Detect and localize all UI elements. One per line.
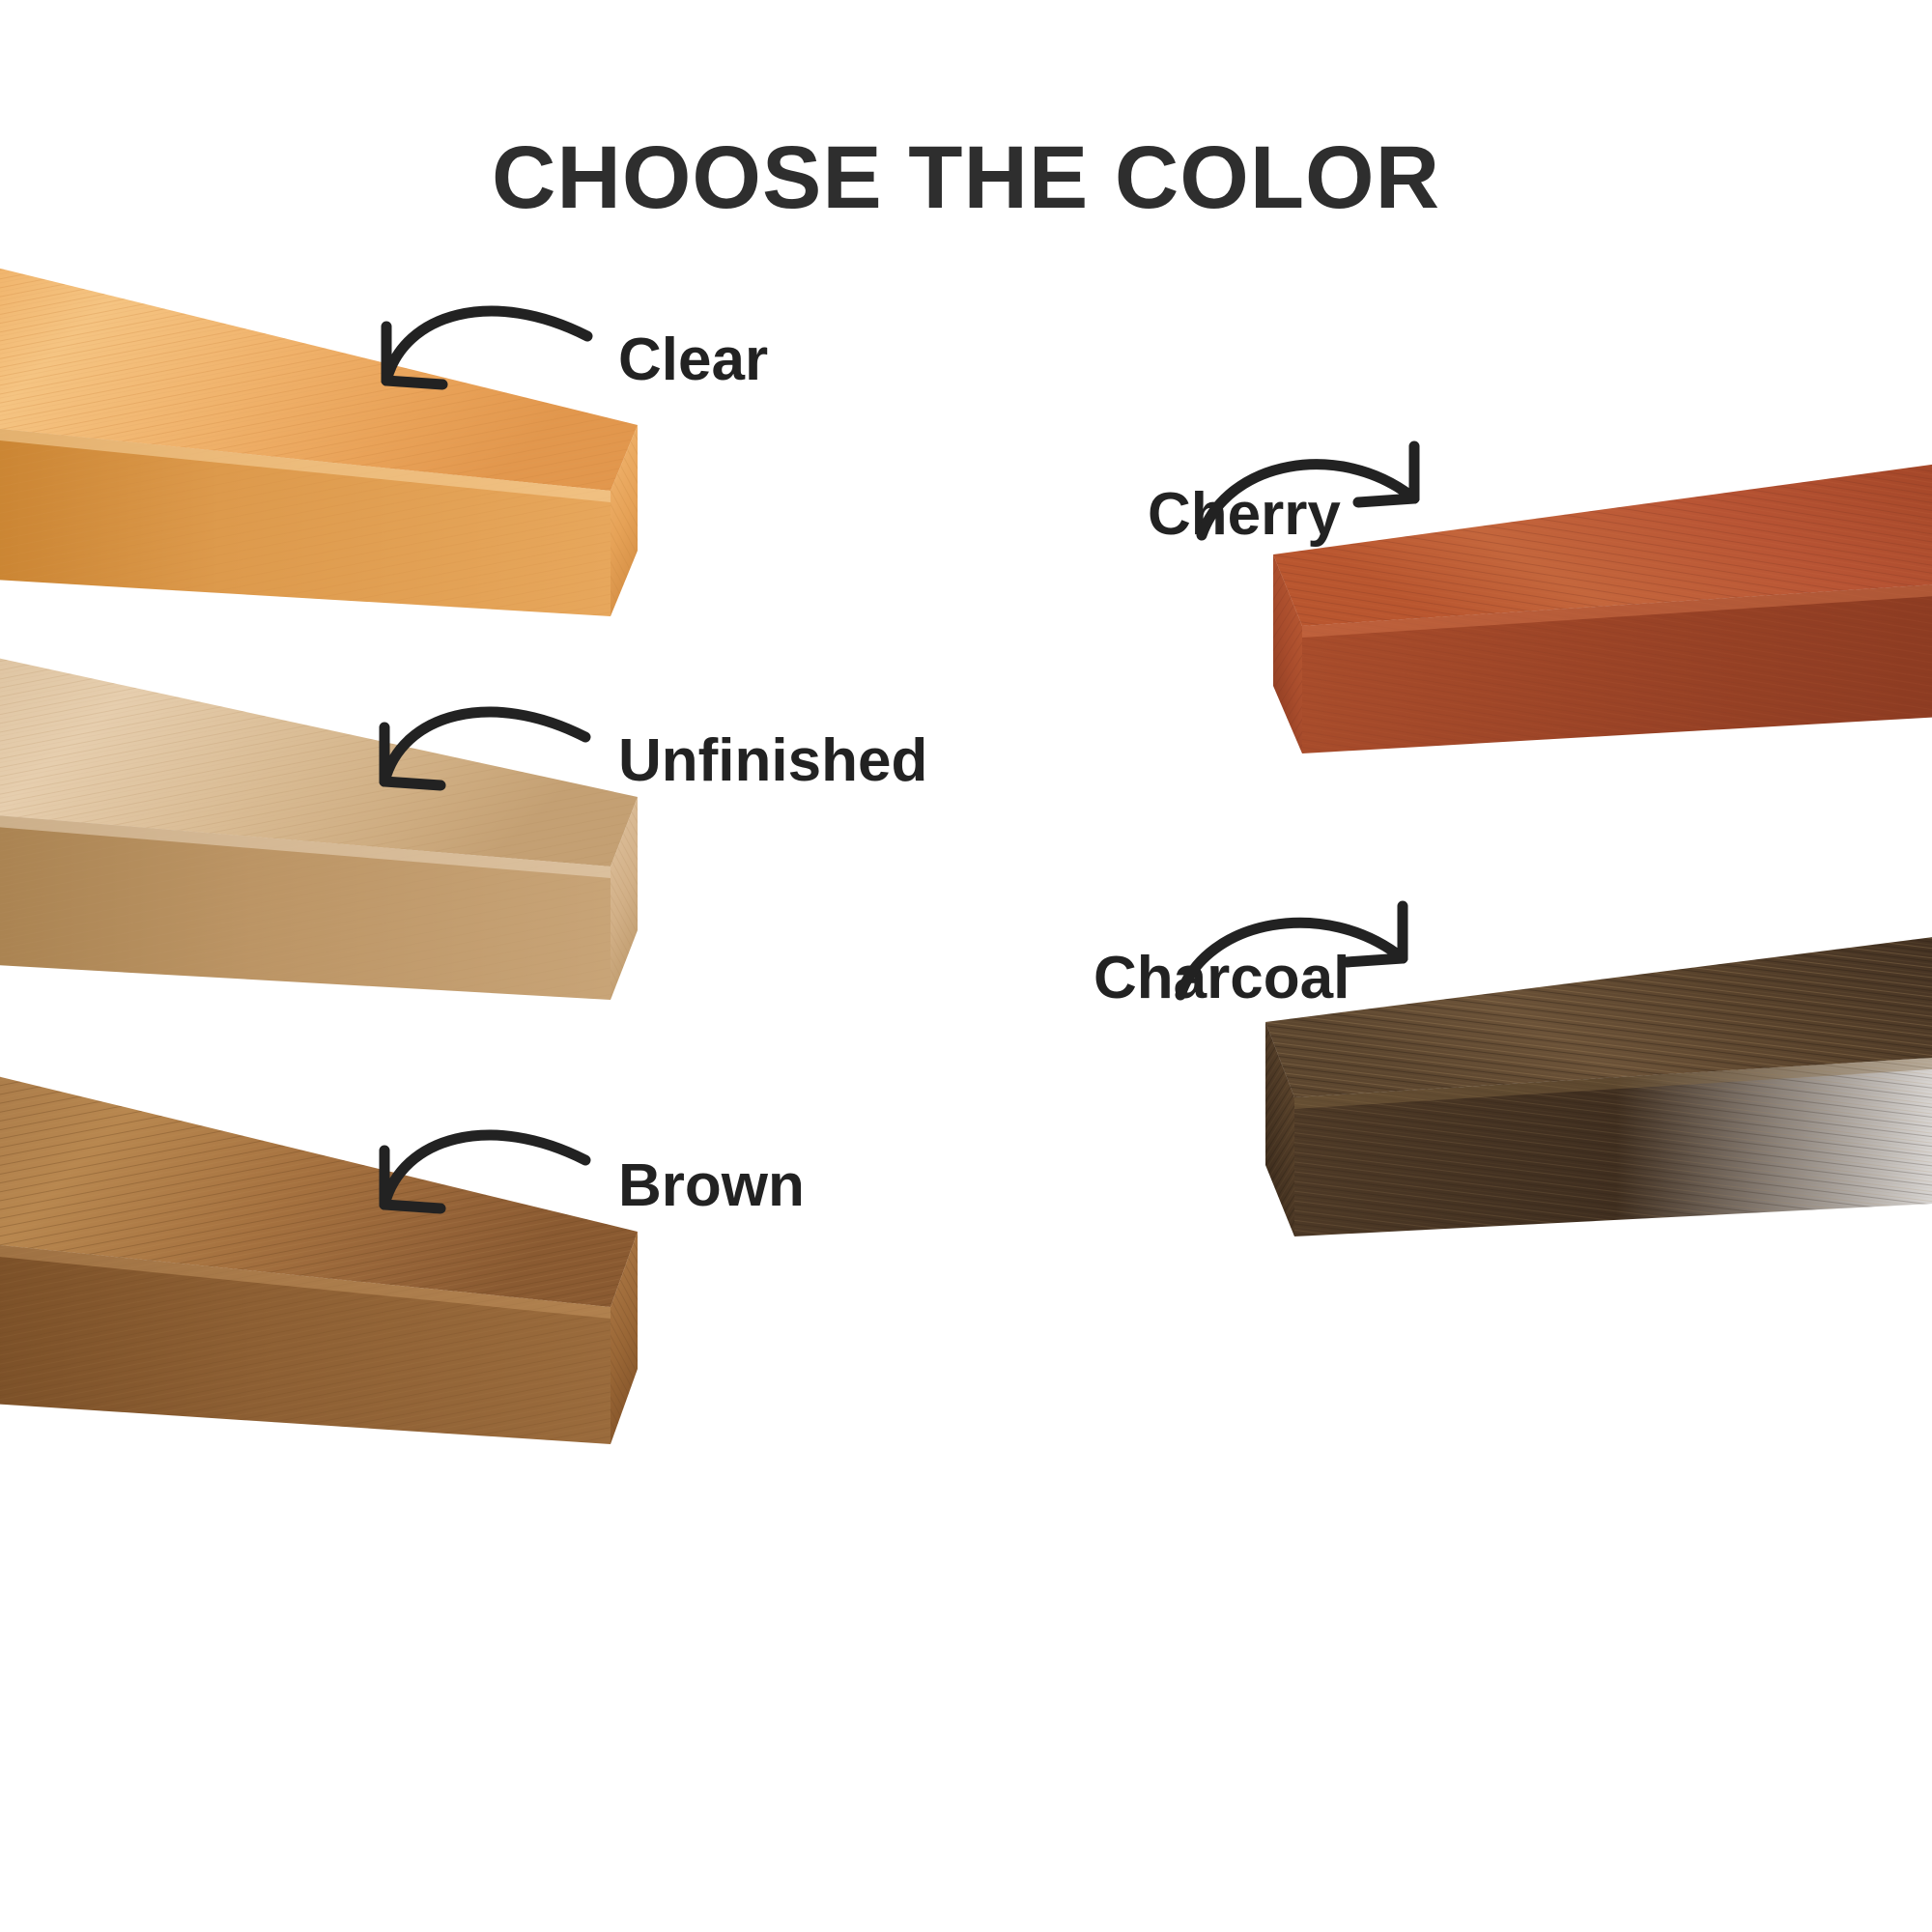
infographic-canvas: CHOOSE THE COLOR — [0, 0, 1932, 1932]
arrow-left-down-icon — [346, 1104, 607, 1220]
swatch-label-clear: Clear — [618, 330, 768, 390]
arrow-left-down-icon — [348, 280, 609, 396]
swatch-label-unfinished: Unfinished — [618, 731, 927, 791]
swatch-label-brown: Brown — [618, 1156, 805, 1216]
arrow-right-down-icon — [1184, 442, 1455, 568]
arrow-right-down-icon — [1163, 902, 1453, 1028]
page-title: CHOOSE THE COLOR — [0, 133, 1932, 222]
arrow-left-down-icon — [346, 681, 607, 797]
